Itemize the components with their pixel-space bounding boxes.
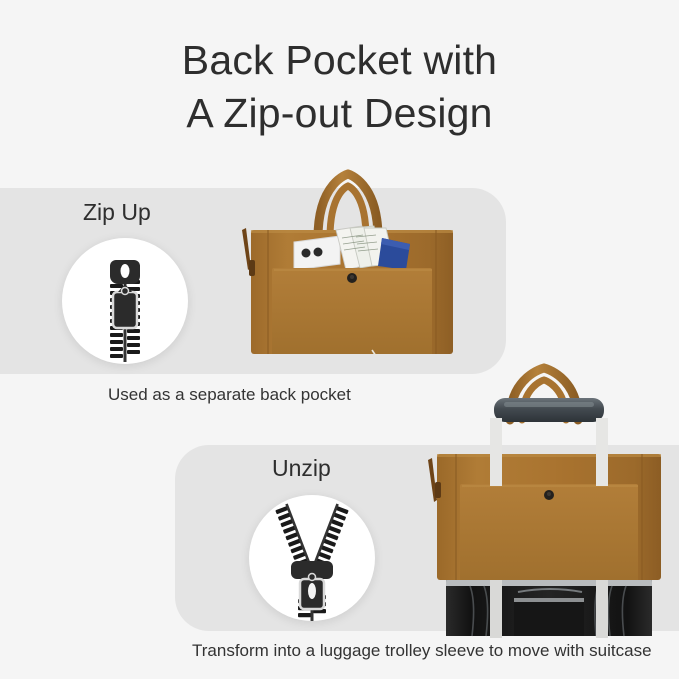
- caption-zip-up: Used as a separate back pocket: [108, 385, 351, 405]
- tote-bag-graphic: [232, 160, 472, 375]
- page-title-line-2: A Zip-out Design: [0, 87, 679, 140]
- panel-label-unzip: Unzip: [272, 455, 331, 482]
- page-title-line-1: Back Pocket with: [182, 37, 497, 83]
- caption-unzip: Transform into a luggage trolley sleeve …: [192, 641, 652, 661]
- page-title: Back Pocket with A Zip-out Design: [0, 34, 679, 141]
- suitcase-graphic: [446, 574, 652, 636]
- infographic-stage: Back Pocket with A Zip-out Design Zip Up: [0, 0, 679, 679]
- smartphone-graphic: [294, 236, 340, 270]
- trolley-bag-graphic: [418, 362, 679, 642]
- tote-bag-illustration: [232, 160, 472, 375]
- zipper-open-badge: [249, 495, 375, 621]
- zipper-closed-badge: [62, 238, 188, 364]
- zipper-closed-icon: [62, 238, 188, 364]
- trolley-handle-graphic: [494, 398, 604, 422]
- trolley-sleeve-illustration: [418, 362, 679, 642]
- zipper-open-icon: [249, 495, 375, 621]
- panel-label-zip-up: Zip Up: [83, 199, 151, 226]
